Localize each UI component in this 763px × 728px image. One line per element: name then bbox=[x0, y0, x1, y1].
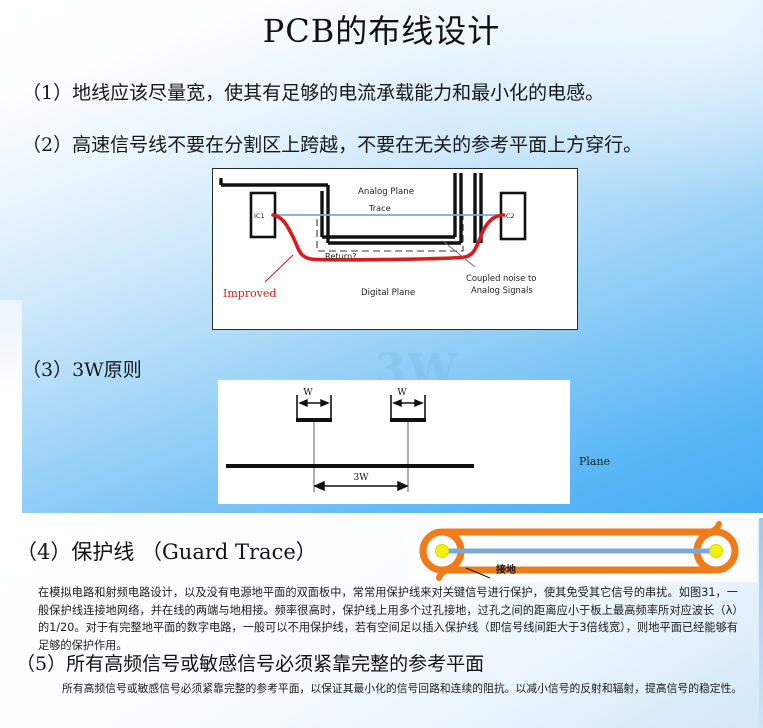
high-frequency-signal-heading: （5）所有高频信号或敏感信号必须紧靠完整的参考平面 bbox=[16, 649, 484, 676]
trace-right-copper bbox=[390, 418, 426, 422]
guard-trace-illustration bbox=[404, 520, 757, 582]
ic2-label: IC2 bbox=[504, 212, 515, 220]
coupled-noise-label-line1: Coupled noise to bbox=[466, 273, 536, 283]
ic1-label: IC1 bbox=[254, 212, 265, 220]
bullet-item-3: （3）3W原则 bbox=[22, 355, 142, 382]
ground-label: 接地 bbox=[496, 561, 516, 576]
improved-leader-line bbox=[265, 255, 293, 282]
three-w-spacing-label: 3W bbox=[354, 473, 370, 483]
plane-label: Plane bbox=[579, 455, 610, 468]
background-left-sliver bbox=[0, 300, 22, 513]
slide-guard-trace: （4）保护线 （Guard Trace） bbox=[0, 517, 763, 728]
analog-plane-label: Analog Plane bbox=[358, 187, 414, 197]
slide2-right-edge bbox=[759, 518, 763, 728]
ground-plane-line bbox=[226, 464, 474, 468]
bullet-item-1: （1）地线应该尽量宽，使其有足够的电流承载能力和最小化的电感。 bbox=[22, 78, 604, 105]
guard-ground-stub-left bbox=[439, 570, 448, 578]
w-label-right: W bbox=[397, 388, 407, 398]
coupled-noise-label-line2: Analog Signals bbox=[471, 285, 533, 295]
w-label-left: W bbox=[303, 388, 313, 398]
via-left bbox=[436, 545, 449, 558]
three-w-rule-diagram: W W 3W bbox=[218, 380, 570, 504]
guard-ground-stub-right bbox=[710, 524, 719, 532]
high-frequency-signal-paragraph: 所有高频信号或敏感信号必须紧靠完整的参考平面，以保证其最小化的信号回路和连续的阻… bbox=[62, 681, 752, 698]
digital-plane-label: Digital Plane bbox=[361, 288, 415, 298]
return-label: Return? bbox=[325, 251, 357, 261]
via-right bbox=[710, 545, 723, 558]
guard-trace-heading: （4）保护线 （Guard Trace） bbox=[16, 536, 317, 566]
split-plane-svg: IC1 IC2 Improved Coupled noise to Analog… bbox=[213, 169, 577, 329]
guard-trace-paragraph: 在模拟电路和射频电路设计，以及没有电源地平面的双面板中，常常用保护线来对关键信号… bbox=[38, 584, 738, 654]
trace-label: Trace bbox=[368, 203, 391, 213]
slide-pcb-routing-design: PCB的布线设计 （1）地线应该尽量宽，使其有足够的电流承载能力和最小化的电感。… bbox=[0, 0, 763, 513]
three-w-rule-svg: W W 3W bbox=[218, 380, 570, 504]
page-title: PCB的布线设计 bbox=[0, 6, 763, 52]
split-plane-routing-diagram: IC1 IC2 Improved Coupled noise to Analog… bbox=[212, 168, 578, 330]
guard-trace-svg bbox=[404, 520, 757, 582]
trace-left-copper bbox=[296, 418, 332, 422]
improved-label: Improved bbox=[223, 287, 276, 300]
bullet-item-2: （2）高速信号线不要在分割区上跨越，不要在无关的参考平面上方穿行。 bbox=[22, 130, 642, 157]
